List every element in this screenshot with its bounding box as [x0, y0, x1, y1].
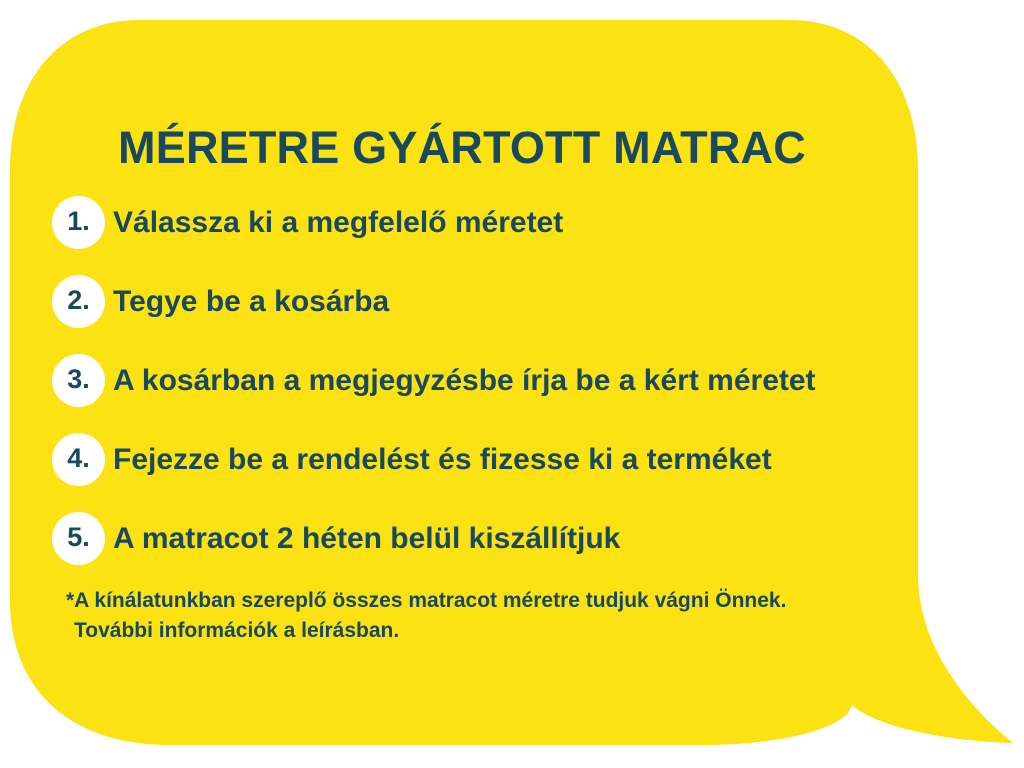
step-number-badge: 2.: [52, 275, 105, 328]
step-number-badge: 4.: [52, 433, 105, 486]
steps-list: 1. Válassza ki a megfelelő méretet 2. Te…: [52, 195, 932, 590]
list-item: 2. Tegye be a kosárba: [52, 274, 932, 328]
step-label: A kosárban a megjegyzésbe írja be a kért…: [113, 364, 932, 397]
footnote: *A kínálatunkban szereplő összes matraco…: [66, 586, 906, 647]
step-label: Válassza ki a megfelelő méretet: [113, 206, 932, 239]
step-label: Fejezze be a rendelést és fizesse ki a t…: [113, 443, 932, 476]
step-label: A matracot 2 héten belül kiszállítjuk: [113, 522, 932, 555]
step-label: Tegye be a kosárba: [113, 285, 932, 318]
step-number-badge: 5.: [52, 512, 105, 565]
footnote-line-2: További információk a leírásban.: [66, 616, 906, 646]
list-item: 1. Válassza ki a megfelelő méretet: [52, 195, 932, 249]
list-item: 5. A matracot 2 héten belül kiszállítjuk: [52, 511, 932, 565]
step-number-badge: 3.: [52, 354, 105, 407]
list-item: 4. Fejezze be a rendelést és fizesse ki …: [52, 432, 932, 486]
page-title: MÉRETRE GYÁRTOTT MATRAC: [0, 124, 924, 171]
speech-bubble-infographic: MÉRETRE GYÁRTOTT MATRAC 1. Válassza ki a…: [0, 0, 1024, 768]
list-item: 3. A kosárban a megjegyzésbe írja be a k…: [52, 353, 932, 407]
step-number-badge: 1.: [52, 196, 105, 249]
footnote-line-1: *A kínálatunkban szereplő összes matraco…: [66, 586, 906, 616]
bubble-content: MÉRETRE GYÁRTOTT MATRAC 1. Válassza ki a…: [0, 0, 1024, 768]
